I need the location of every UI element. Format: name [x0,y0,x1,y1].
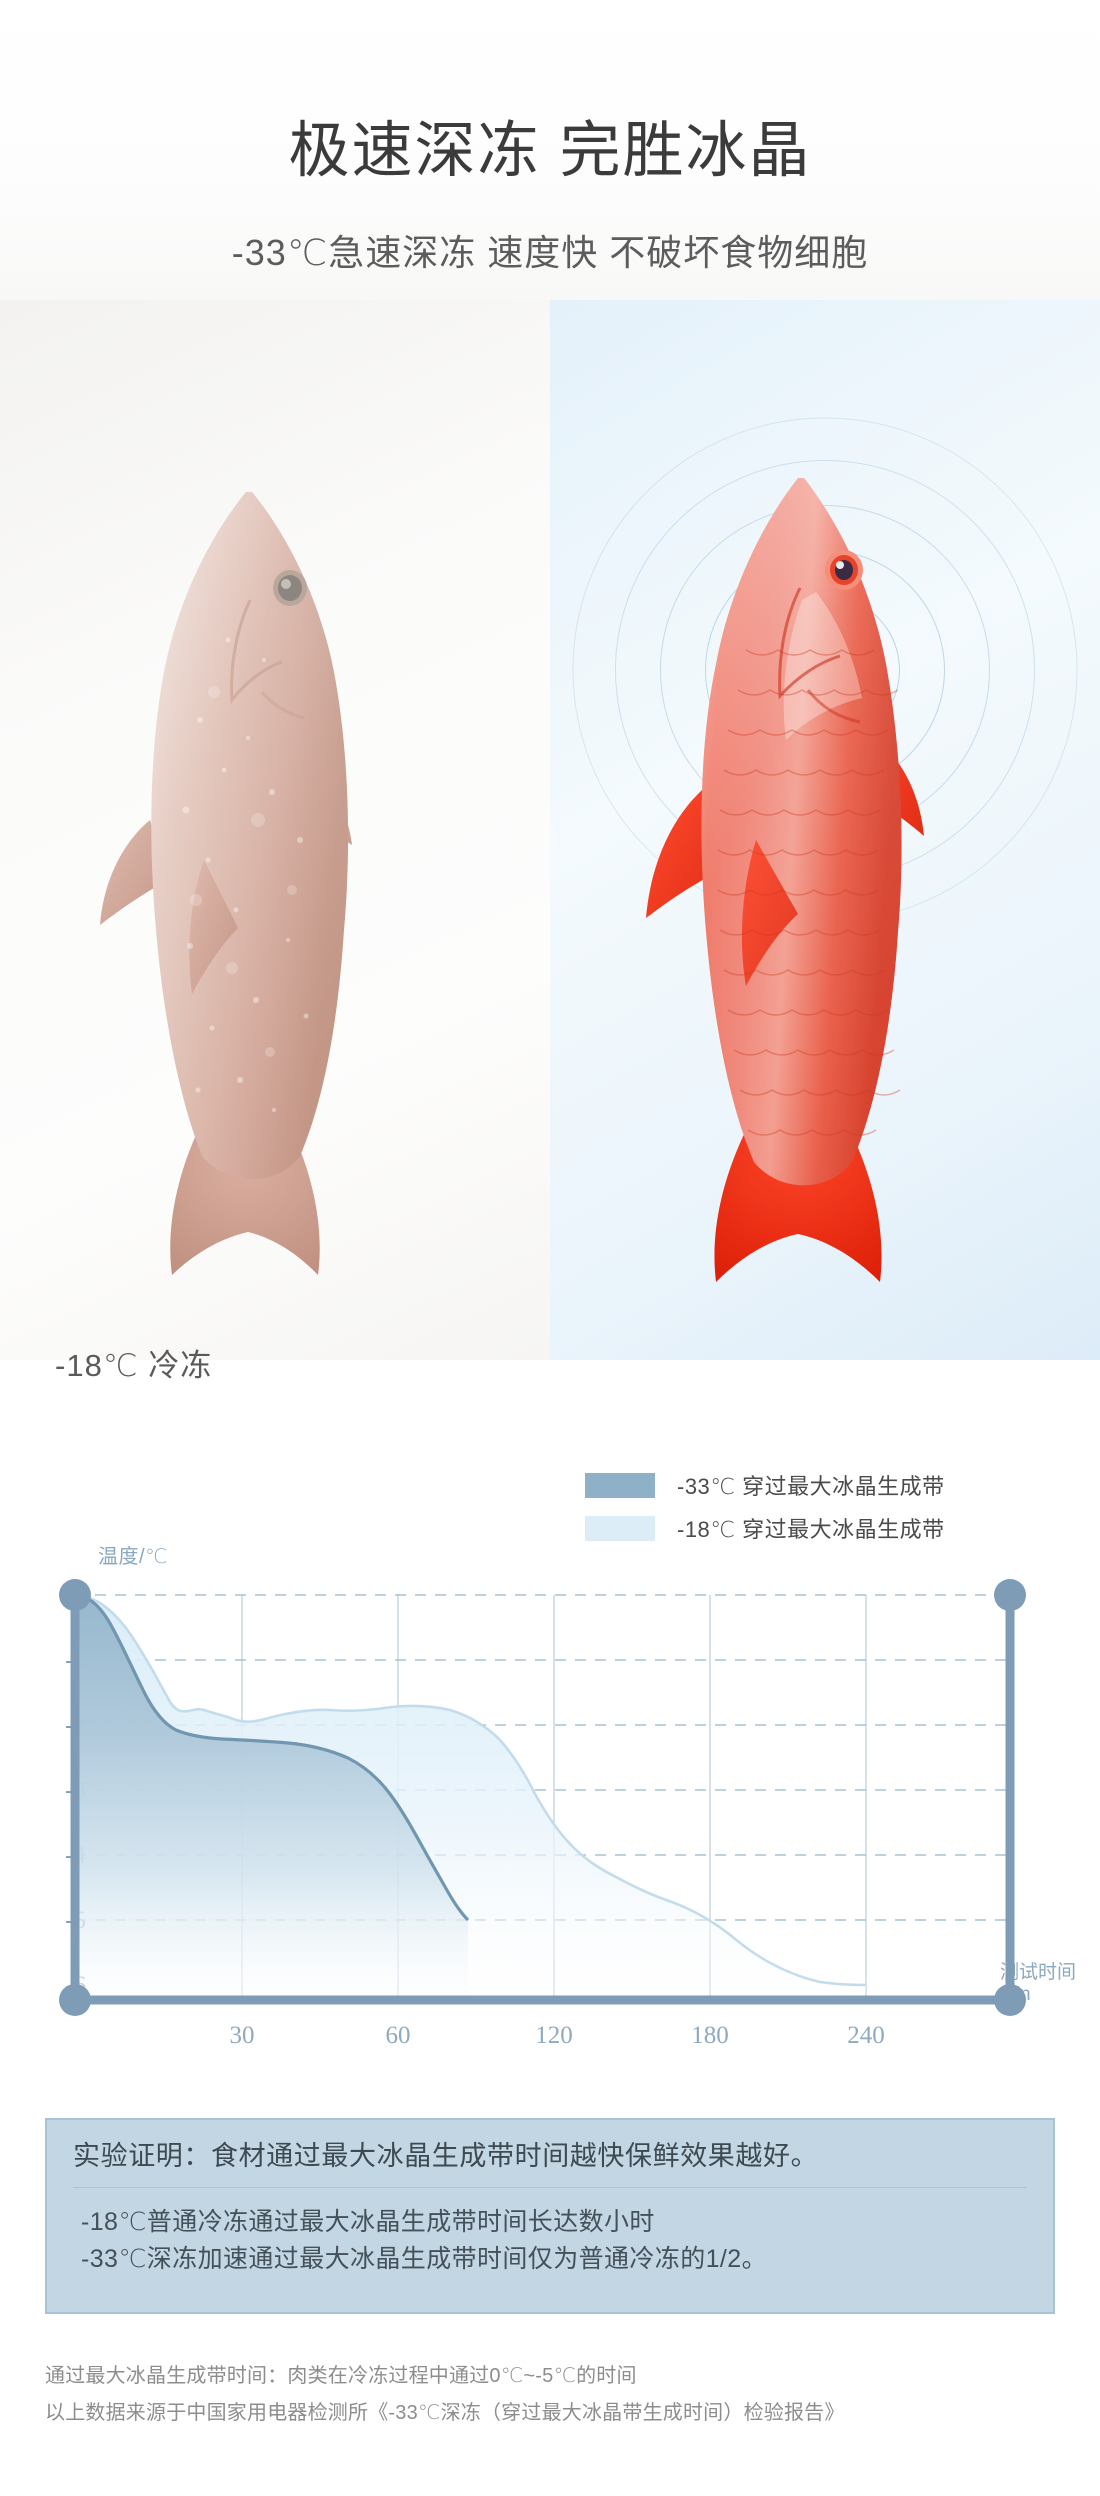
y-axis-cap-top [59,1579,91,1611]
fish-image-normal-freeze [0,300,550,1360]
footnote-2: 以上数据来源于中国家用电器检测所《-33℃深冻（穿过最大冰晶带生成时间）检验报告… [45,2395,1065,2432]
label-normal-freeze: -18℃ 冷冻 [55,1340,212,1385]
right-axis-cap-top [994,1579,1026,1611]
conclusion-headline: 实验证明：食材通过最大冰晶生成带时间越快保鲜效果越好。 [73,2138,1027,2187]
comparison-panel-deep-freeze: -33℃ 深冻 冷冻速度快，食材中的水分子通过最大冰晶生成带时间仅为普通冷冻的1… [550,300,1100,1360]
conclusion-line-1: -18℃普通冷冻通过最大冰晶生成带时间长达数小时 [73,2204,1027,2241]
freezing-curve-chart: -33℃ 穿过最大冰晶生成带 -18℃ 穿过最大冰晶生成带 温度/℃ 测试时间 … [0,1400,1100,2100]
footnotes: 通过最大冰晶生成带时间：肉类在冷冻过程中通过0℃~-5℃的时间 以上数据来源于中… [45,2358,1065,2432]
right-axis-cap-bottom [994,1984,1026,2016]
conclusion-line-2: -33℃深冻加速通过最大冰晶生成带时间仅为普通冷冻的1/2。 [73,2241,1027,2278]
page-subtitle: -33℃急速深冻 速度快 不破坏食物细胞 [0,235,1100,271]
comparison-panel-normal-freeze: -18℃ 冷冻 冷冻速度慢，食材中的水分子通过冰晶带时间长达数小时，汁液流失率多… [0,300,550,1360]
comparison-section: -18℃ 冷冻 冷冻速度慢，食材中的水分子通过冰晶带时间长达数小时，汁液流失率多… [0,300,1100,1360]
page-title: 极速深冻 完胜冰晶 [0,120,1100,181]
conclusion-box: 实验证明：食材通过最大冰晶生成带时间越快保鲜效果越好。 -18℃普通冷冻通过最大… [45,2118,1055,2314]
product-feature-page: 极速深冻 完胜冰晶 -33℃急速深冻 速度快 不破坏食物细胞 [0,0,1100,2496]
chart-plot-area [0,1400,1100,2100]
hero-section: 极速深冻 完胜冰晶 -33℃急速深冻 速度快 不破坏食物细胞 [0,0,1100,300]
conclusion-divider [73,2187,1027,2188]
footnote-1: 通过最大冰晶生成带时间：肉类在冷冻过程中通过0℃~-5℃的时间 [45,2358,1065,2395]
